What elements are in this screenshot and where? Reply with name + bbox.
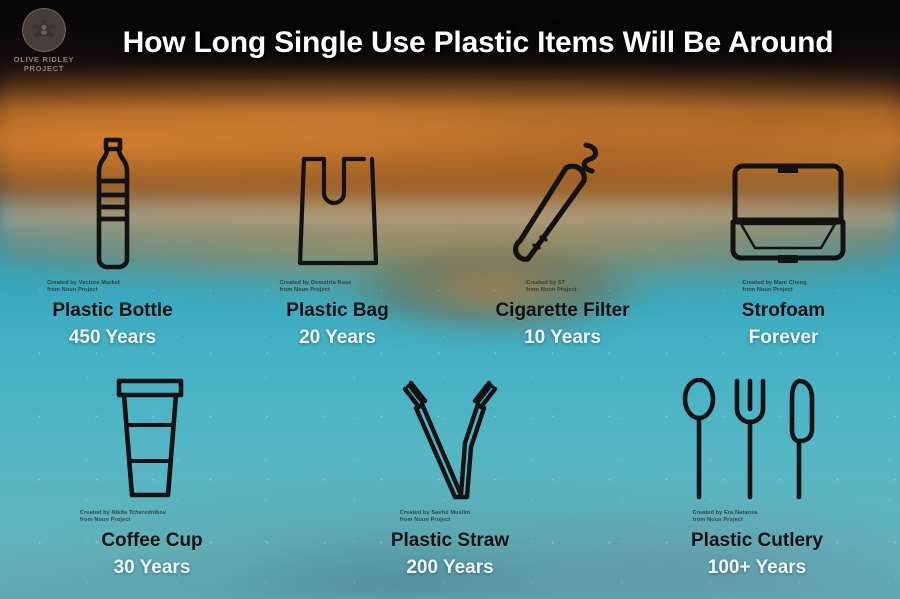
strofoam-container-icon — [723, 140, 853, 275]
item-lifespan-value: 30 Years — [114, 557, 191, 579]
poster-header: OLIVE RIDLEY PROJECT How Long Single Use… — [0, 0, 900, 86]
credit-line-2: from Noun Project — [279, 287, 351, 294]
credit-line-1: Created by Vectors Market — [47, 280, 120, 287]
infographic-poster: OLIVE RIDLEY PROJECT How Long Single Use… — [0, 0, 900, 599]
page-title: How Long Single Use Plastic Items Will B… — [82, 26, 900, 60]
credit-line-1: Created by Saeful Muslim — [400, 510, 470, 517]
attribution-credit: Created by Demetria Rose from Noun Proje… — [279, 280, 351, 294]
credit-line-2: from Noun Project — [80, 517, 166, 524]
credit-line-1: Created by ST — [526, 280, 577, 287]
brand-name: OLIVE RIDLEY PROJECT — [14, 55, 75, 73]
credit-line-2: from Noun Project — [742, 287, 806, 294]
item-label: Cigarette Filter — [495, 300, 629, 322]
turtle-badge-icon — [22, 8, 66, 52]
item-label: Plastic Bag — [286, 300, 388, 322]
item-label: Plastic Straw — [391, 530, 509, 552]
coffee-cup-icon — [105, 370, 195, 505]
credit-line-1: Created by Demetria Rose — [279, 280, 351, 287]
credit-line-1: Created by Mani Cheng — [742, 280, 806, 287]
attribution-credit: Created by Nikita Tcherednikov from Noun… — [80, 510, 166, 524]
item-label: Plastic Cutlery — [691, 530, 823, 552]
brand-name-line1: OLIVE RIDLEY — [14, 55, 75, 64]
brand-logo[interactable]: OLIVE RIDLEY PROJECT — [6, 6, 82, 80]
item-cigarette-filter[interactable]: Created by ST from Noun Project Cigarett… — [450, 140, 675, 349]
attribution-credit: Created by ST from Noun Project — [526, 280, 577, 294]
brand-name-line2: PROJECT — [14, 64, 75, 73]
attribution-credit: Created by Era Natansa from Noun Project — [692, 510, 757, 524]
item-strofoam[interactable]: Created by Mani Cheng from Noun Project … — [675, 140, 900, 349]
credit-line-2: from Noun Project — [400, 517, 470, 524]
item-lifespan-value: 450 Years — [69, 327, 156, 349]
item-label: Strofoam — [742, 300, 825, 322]
item-lifespan-value: 10 Years — [524, 327, 601, 349]
credit-line-1: Created by Nikita Tcherednikov — [80, 510, 166, 517]
item-lifespan-value: 20 Years — [299, 327, 376, 349]
item-lifespan-value: 200 Years — [406, 557, 493, 579]
credit-line-2: from Noun Project — [526, 287, 577, 294]
item-lifespan-value: 100+ Years — [708, 557, 806, 579]
plastic-cutlery-icon — [675, 370, 825, 505]
attribution-credit: Created by Vectors Market from Noun Proj… — [47, 280, 120, 294]
credit-line-1: Created by Era Natansa — [692, 510, 757, 517]
item-coffee-cup[interactable]: Created by Nikita Tcherednikov from Noun… — [0, 370, 300, 579]
item-plastic-bag[interactable]: Created by Demetria Rose from Noun Proje… — [225, 140, 450, 349]
item-plastic-bottle[interactable]: Created by Vectors Market from Noun Proj… — [0, 140, 225, 349]
item-lifespan-value: Forever — [749, 327, 819, 349]
item-plastic-cutlery[interactable]: Created by Era Natansa from Noun Project… — [600, 370, 900, 579]
item-plastic-straw[interactable]: Created by Saeful Muslim from Noun Proje… — [300, 370, 600, 579]
items-row-1: Created by Vectors Market from Noun Proj… — [0, 140, 900, 349]
item-label: Plastic Bottle — [52, 300, 172, 322]
plastic-bottle-icon — [74, 140, 152, 275]
credit-line-2: from Noun Project — [692, 517, 757, 524]
credit-line-2: from Noun Project — [47, 287, 120, 294]
attribution-credit: Created by Mani Cheng from Noun Project — [742, 280, 806, 294]
attribution-credit: Created by Saeful Muslim from Noun Proje… — [400, 510, 470, 524]
plastic-bag-icon — [290, 140, 386, 275]
item-label: Coffee Cup — [101, 530, 202, 552]
items-row-2: Created by Nikita Tcherednikov from Noun… — [0, 370, 900, 579]
cigarette-filter-icon — [508, 140, 618, 275]
plastic-straw-icon — [395, 370, 505, 505]
